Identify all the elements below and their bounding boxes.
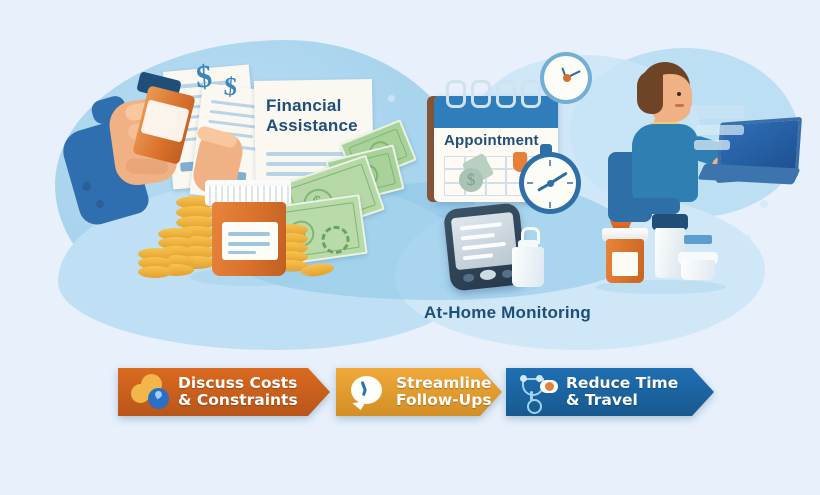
financial-assistance-label: Financial Assistance: [266, 96, 370, 136]
background-ui-card: [696, 125, 744, 135]
illustration-canvas: $ $ Financial Assistance $ $ $ $: [0, 0, 820, 495]
decor-speck: [745, 235, 750, 240]
at-home-monitoring-label: At-Home Monitoring: [424, 303, 624, 323]
stopwatch-pin: [547, 180, 554, 187]
chair-seat: [620, 198, 680, 214]
stethoscope-icon: [518, 372, 562, 412]
banner-label: Discuss Costs & Constraints: [178, 375, 298, 408]
banner-label: Streamline Follow-Ups: [396, 375, 492, 408]
torso-shirt: [632, 124, 698, 202]
dollar-sign-icon: $: [223, 72, 238, 103]
orange-vial-label: [612, 252, 638, 276]
banner-discuss-costs[interactable]: Discuss Costs & Constraints: [118, 368, 330, 416]
chat-clock-icon: [348, 372, 392, 412]
calendar-ring: [446, 80, 466, 108]
coins-icon: [130, 372, 174, 412]
test-tube-container: [512, 247, 544, 287]
eye: [677, 92, 681, 96]
background-ui-card: [694, 140, 730, 150]
strip-test-icon: [684, 235, 712, 244]
calendar-ring: [496, 80, 516, 108]
dollar-sign-icon: $: [195, 57, 214, 95]
banner-reduce-time-travel[interactable]: Reduce Time & Travel: [506, 368, 714, 416]
calendar-ring: [521, 80, 541, 108]
calendar-ring: [471, 80, 491, 108]
sleeve-button: [82, 182, 91, 191]
decor-speck: [388, 95, 395, 102]
mouth: [675, 104, 684, 107]
small-cup-body: [681, 260, 715, 280]
hair-side: [637, 70, 663, 114]
background-ui-card: [690, 105, 744, 119]
wall-clock-pin: [563, 74, 571, 82]
decor-speck: [760, 200, 768, 208]
banner-streamline-follow-ups[interactable]: Streamline Follow-Ups: [336, 368, 502, 416]
banner-label: Reduce Time & Travel: [566, 375, 678, 408]
pill-bottle-label: [222, 222, 278, 260]
calendar-dollar-badge: $: [459, 168, 483, 192]
sleeve-button: [96, 200, 104, 208]
appointment-label: Appointment: [444, 132, 554, 150]
